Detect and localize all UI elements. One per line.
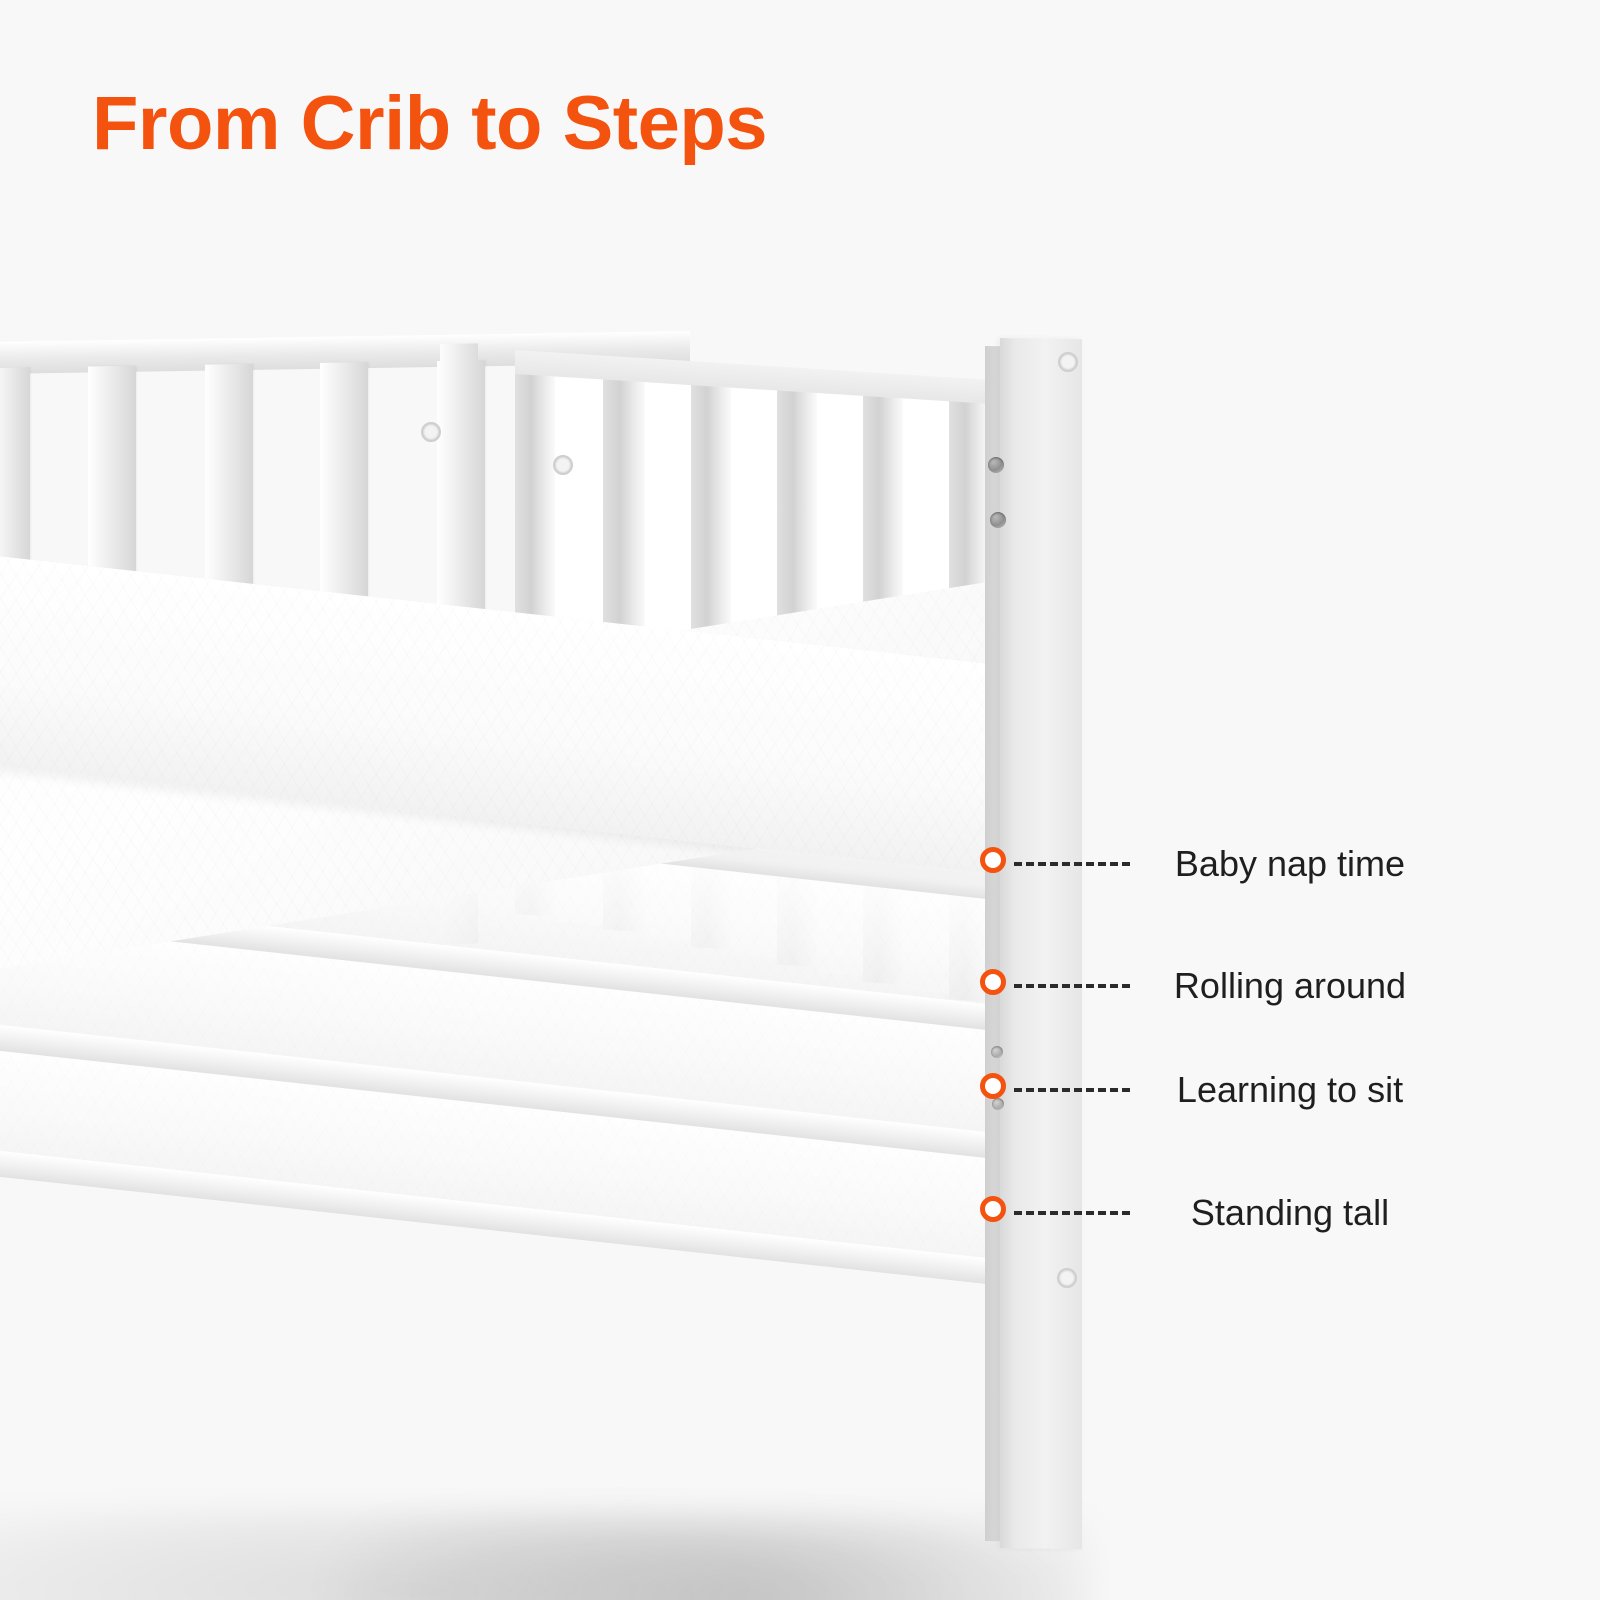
callout-marker-icon[interactable] [980,969,1006,995]
callout-label: Rolling around [1140,960,1440,1012]
callout-label: Learning to sit [1140,1064,1440,1116]
screw-icon [990,512,1006,528]
callout-marker-icon[interactable] [980,1196,1006,1222]
crib-corner-post-front [1000,338,1082,1549]
callout-marker-icon[interactable] [980,847,1006,873]
callout-leader-line [1014,1211,1130,1215]
callout-marker-icon[interactable] [980,1073,1006,1099]
page-title: From Crib to Steps [92,86,767,162]
infographic-canvas: From Crib to Steps [0,0,1600,1600]
screw-icon [992,1098,1004,1110]
product-photo [0,330,1110,1600]
floor-shadow-secondary [330,1520,1090,1600]
callout-label: Baby nap time [1140,838,1440,890]
screw-hole-icon [553,455,573,475]
screw-hole-icon [421,422,441,442]
screw-icon [991,1046,1003,1058]
screw-hole-icon [1057,1268,1077,1288]
screw-hole-icon [1058,352,1078,372]
callout-leader-line [1014,984,1130,988]
callout-leader-line [1014,862,1130,866]
callout-label: Standing tall [1140,1187,1440,1239]
screw-icon [988,457,1004,473]
callout-leader-line [1014,1088,1130,1092]
